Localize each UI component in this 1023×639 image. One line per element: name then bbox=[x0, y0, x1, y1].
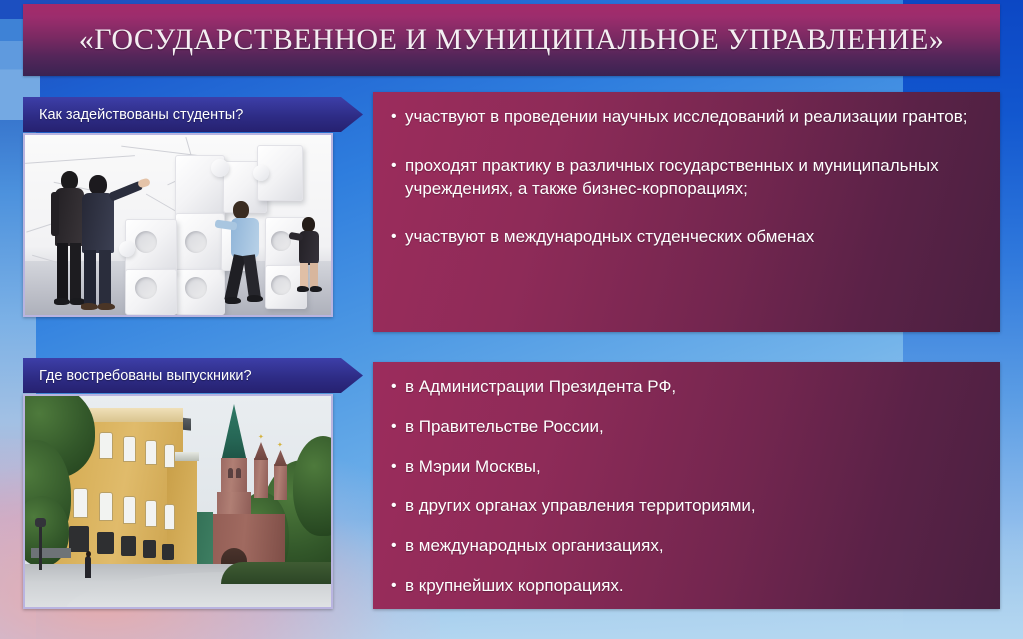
section-banner-label: Где востребованы выпускники? bbox=[23, 368, 252, 384]
bullet-item: проходят практику в различных государств… bbox=[391, 155, 984, 201]
building-window bbox=[99, 492, 113, 521]
section-banner-students[interactable]: Как задействованы студенты? bbox=[23, 97, 363, 132]
business-people-puzzle-wall-photo bbox=[23, 133, 333, 317]
person-leg bbox=[99, 250, 111, 306]
presentation-slide: «ГОСУДАРСТВЕННОЕ И МУНИЦИПАЛЬНОЕ УПРАВЛЕ… bbox=[0, 0, 1023, 639]
bullet-item: в Администрации Президента РФ, bbox=[391, 376, 984, 399]
person-shoe bbox=[297, 286, 309, 292]
building-window bbox=[145, 500, 157, 527]
bullet-item: участвуют в международных студенческих о… bbox=[391, 226, 984, 249]
tower-window bbox=[236, 468, 241, 478]
puzzle-socket bbox=[135, 231, 157, 253]
building-window bbox=[164, 444, 175, 468]
bullet-item: в Мэрии Москвы, bbox=[391, 456, 984, 479]
pedestrian-head bbox=[86, 551, 91, 557]
building-window bbox=[99, 432, 113, 459]
photo-content: ✦ ✦ bbox=[25, 396, 331, 607]
person-shoe bbox=[247, 295, 263, 302]
person-leg bbox=[57, 243, 68, 301]
person-shoe bbox=[310, 286, 322, 292]
building-window bbox=[123, 496, 136, 524]
person-shoe bbox=[54, 298, 70, 305]
cannon bbox=[162, 544, 174, 560]
puzzle-knob bbox=[119, 241, 135, 257]
person-torso bbox=[82, 193, 114, 253]
gold-finial-icon: ✦ bbox=[277, 442, 283, 449]
person-head bbox=[89, 175, 107, 195]
cannon bbox=[121, 536, 136, 556]
stone-plinth bbox=[31, 548, 71, 558]
graduates-content-panel: в Администрации Президента РФ, в Правите… bbox=[373, 362, 1000, 609]
tower-window bbox=[228, 468, 233, 478]
gold-finial-icon: ✦ bbox=[258, 434, 264, 441]
person-shoe bbox=[225, 297, 241, 304]
building-window bbox=[145, 440, 157, 465]
person-arm bbox=[51, 192, 59, 236]
cannon bbox=[143, 540, 156, 558]
puzzle-knob bbox=[211, 159, 229, 177]
person-leg bbox=[70, 243, 81, 301]
cannon bbox=[97, 532, 114, 554]
building-window bbox=[73, 488, 88, 518]
moscow-kremlin-arsenal-photo: ✦ ✦ bbox=[23, 394, 333, 609]
puzzle-socket bbox=[185, 231, 207, 253]
building-window bbox=[123, 436, 136, 462]
bullet-item: в других органах управления территориями… bbox=[391, 495, 984, 518]
bullet-item: в крупнейших корпорациях. bbox=[391, 575, 984, 598]
lamp-head bbox=[35, 518, 46, 527]
building-window bbox=[164, 504, 175, 530]
section-banner-label: Как задействованы студенты? bbox=[23, 107, 243, 123]
bullet-list: в Администрации Президента РФ, в Правите… bbox=[391, 376, 984, 598]
grass-verge bbox=[221, 562, 331, 584]
lamp-post bbox=[39, 524, 42, 570]
puzzle-socket bbox=[185, 277, 207, 299]
puzzle-socket bbox=[271, 231, 291, 251]
small-tower bbox=[254, 458, 268, 498]
small-tower bbox=[274, 464, 287, 500]
photo-content bbox=[25, 135, 331, 315]
bullet-list: участвуют в проведении научных исследова… bbox=[391, 106, 984, 249]
puzzle-knob bbox=[253, 165, 269, 181]
slide-title: «ГОСУДАРСТВЕННОЕ И МУНИЦИПАЛЬНОЕ УПРАВЛЕ… bbox=[23, 23, 1000, 57]
person-head bbox=[302, 217, 315, 232]
bullet-item: в международных организациях, bbox=[391, 535, 984, 558]
person-shoe bbox=[81, 303, 98, 310]
puzzle-socket bbox=[135, 277, 157, 299]
students-content-panel: участвуют в проведении научных исследова… bbox=[373, 92, 1000, 332]
slide-title-band: «ГОСУДАРСТВЕННОЕ И МУНИЦИПАЛЬНОЕ УПРАВЛЕ… bbox=[23, 4, 1000, 76]
person-leg bbox=[84, 250, 96, 306]
cannon bbox=[69, 526, 89, 552]
person-head bbox=[233, 201, 249, 219]
bullet-item: в Правительстве России, bbox=[391, 416, 984, 439]
person-shoe bbox=[98, 303, 115, 310]
puzzle-socket bbox=[271, 275, 291, 295]
section-banner-graduates[interactable]: Где востребованы выпускники? bbox=[23, 358, 363, 393]
person-torso bbox=[55, 188, 84, 246]
bullet-item: участвуют в проведении научных исследова… bbox=[391, 106, 984, 129]
pedestrian bbox=[85, 556, 91, 578]
